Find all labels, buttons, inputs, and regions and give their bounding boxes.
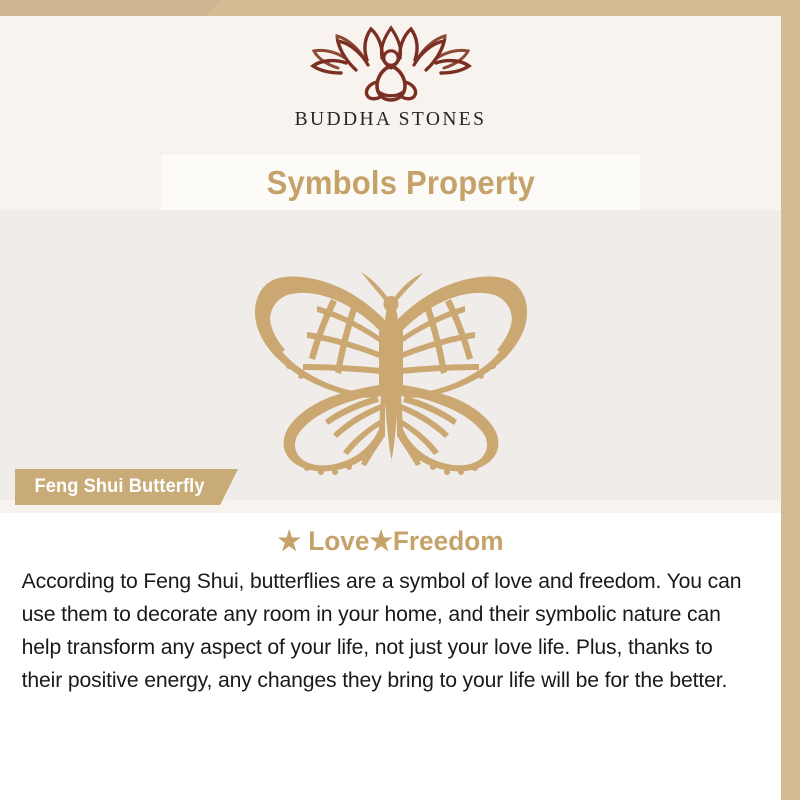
lotus-meditation-icon	[305, 24, 477, 108]
status-badge-label: Feng Shui Butterfly	[35, 476, 205, 498]
status-badge: Feng Shui Butterfly	[15, 469, 238, 505]
frame-top-accent	[205, 0, 800, 17]
hero-image-area	[0, 210, 781, 500]
brand-name: BUDDHA STONES	[295, 109, 487, 131]
frame-right-accent	[781, 0, 800, 800]
poster-root: BUDDHA STONES Symbols Property	[0, 0, 800, 800]
page-title: Symbols Property	[266, 164, 534, 202]
description-text: According to Feng Shui, butterflies are …	[0, 557, 769, 697]
description-block: ★ Love★Freedom According to Feng Shui, b…	[0, 513, 781, 800]
butterfly-icon	[211, 238, 571, 478]
brand-header: BUDDHA STONES	[0, 16, 781, 144]
subtitle: ★ Love★Freedom	[12, 513, 770, 557]
title-banner: Symbols Property	[161, 155, 640, 210]
main-panel: BUDDHA STONES Symbols Property	[0, 16, 781, 784]
